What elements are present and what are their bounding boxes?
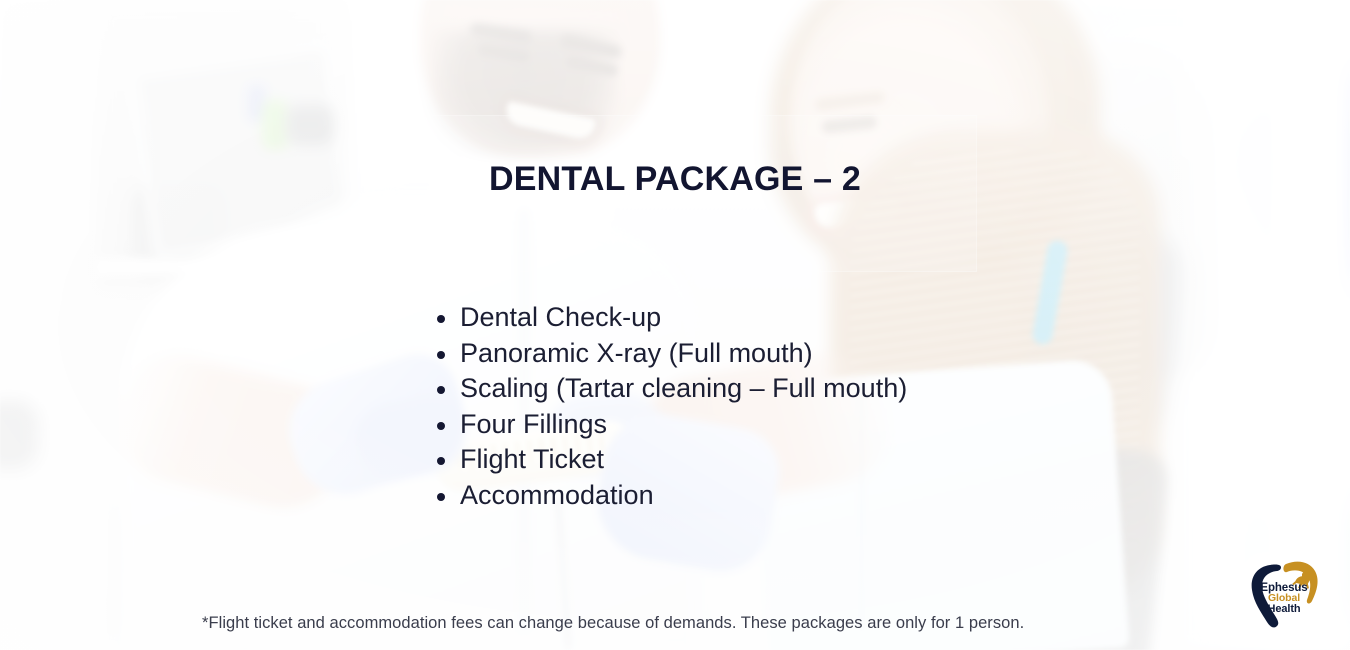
page-title: DENTAL PACKAGE – 2: [0, 160, 1350, 199]
package-feature-list: Dental Check-up Panoramic X-ray (Full mo…: [437, 300, 907, 513]
list-item: Scaling (Tartar cleaning – Full mouth): [437, 371, 907, 407]
ephesus-global-health-logo: Ephesus Global Health: [1236, 548, 1332, 640]
list-item: Panoramic X-ray (Full mouth): [437, 336, 907, 372]
dental-package-poster: DENTAL PACKAGE – 2 Dental Check-up Panor…: [0, 0, 1350, 650]
logo-tooth-icon: [1236, 548, 1332, 640]
list-item: Four Fillings: [437, 407, 907, 443]
list-item: Accommodation: [437, 478, 907, 514]
poster-content: DENTAL PACKAGE – 2 Dental Check-up Panor…: [0, 0, 1350, 650]
list-item: Flight Ticket: [437, 442, 907, 478]
list-item: Dental Check-up: [437, 300, 907, 336]
disclaimer-text: *Flight ticket and accommodation fees ca…: [202, 614, 1024, 633]
